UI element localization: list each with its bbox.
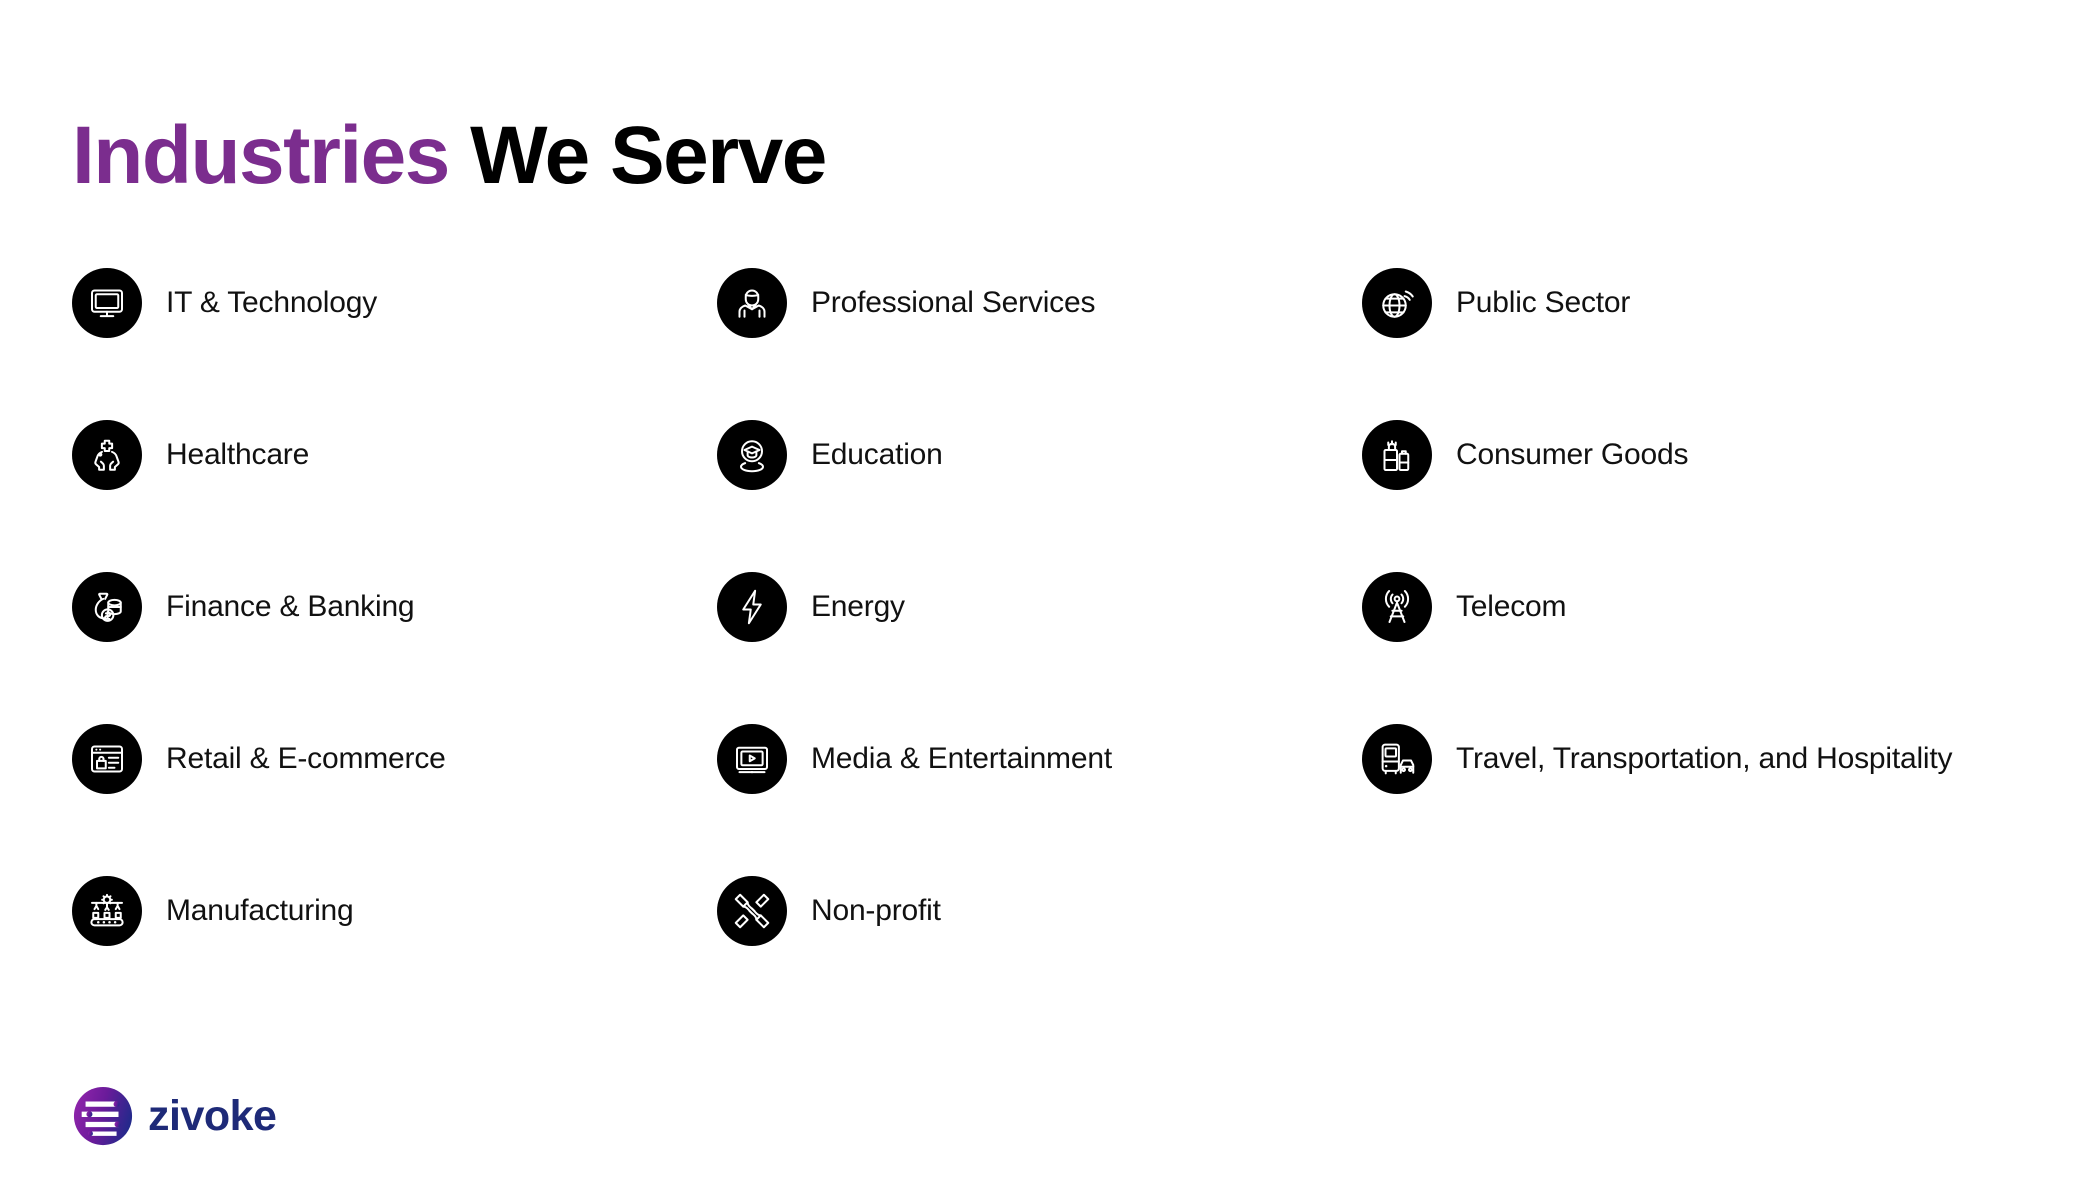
money-bag-coins-icon [72,572,142,642]
industry-item-public-sector[interactable]: Public Sector [1362,268,2032,338]
industry-item-it-technology[interactable]: IT & Technology [72,268,717,338]
industry-item-media-entertainment[interactable]: Media & Entertainment [717,724,1362,794]
industry-label: Public Sector [1456,286,1630,320]
radio-tower-icon [1362,572,1432,642]
page-title-rest: We Serve [449,110,826,201]
industry-item-travel-transportation-hospitality[interactable]: Travel, Transportation, and Hospitality [1362,724,2032,794]
industry-label: IT & Technology [166,286,377,320]
video-player-icon [717,724,787,794]
industry-label: Retail & E-commerce [166,742,446,776]
industry-label: Professional Services [811,286,1095,320]
caring-hands-cross-icon [72,420,142,490]
monitor-icon [72,268,142,338]
industry-item-manufacturing[interactable]: Manufacturing [72,876,717,946]
industry-item-retail-ecommerce[interactable]: Retail & E-commerce [72,724,717,794]
industry-label: Consumer Goods [1456,438,1688,472]
industry-label: Energy [811,590,905,624]
industries-grid: IT & Technology Professional Services [72,268,2032,1028]
industry-item-telecom[interactable]: Telecom [1362,572,2032,642]
joined-hands-icon [717,876,787,946]
page-title-accent: Industries [72,110,449,201]
industry-item-non-profit[interactable]: Non-profit [717,876,1362,946]
industry-label: Finance & Banking [166,590,414,624]
industry-item-energy[interactable]: Energy [717,572,1362,642]
assembly-line-icon [72,876,142,946]
zivoke-mark-icon [72,1085,134,1147]
industry-label: Education [811,438,943,472]
industry-label: Healthcare [166,438,309,472]
industry-label: Media & Entertainment [811,742,1112,776]
lightning-bolt-icon [717,572,787,642]
brand-name: zivoke [148,1095,276,1138]
industry-item-finance-banking[interactable]: Finance & Banking [72,572,717,642]
brand-logo[interactable]: zivoke [72,1085,276,1147]
industry-label: Manufacturing [166,894,354,928]
industry-item-education[interactable]: Education [717,420,1362,490]
industry-item-healthcare[interactable]: Healthcare [72,420,717,490]
industry-label: Travel, Transportation, and Hospitality [1456,742,1952,776]
industry-label: Non-profit [811,894,941,928]
page-title: Industries We Serve [72,113,826,199]
industry-item-consumer-goods[interactable]: Consumer Goods [1362,420,2032,490]
graduation-cap-icon [717,420,787,490]
industry-label: Telecom [1456,590,1566,624]
bus-car-icon [1362,724,1432,794]
industry-item-professional-services[interactable]: Professional Services [717,268,1362,338]
businessperson-icon [717,268,787,338]
product-packages-icon [1362,420,1432,490]
globe-signal-icon [1362,268,1432,338]
online-store-icon [72,724,142,794]
